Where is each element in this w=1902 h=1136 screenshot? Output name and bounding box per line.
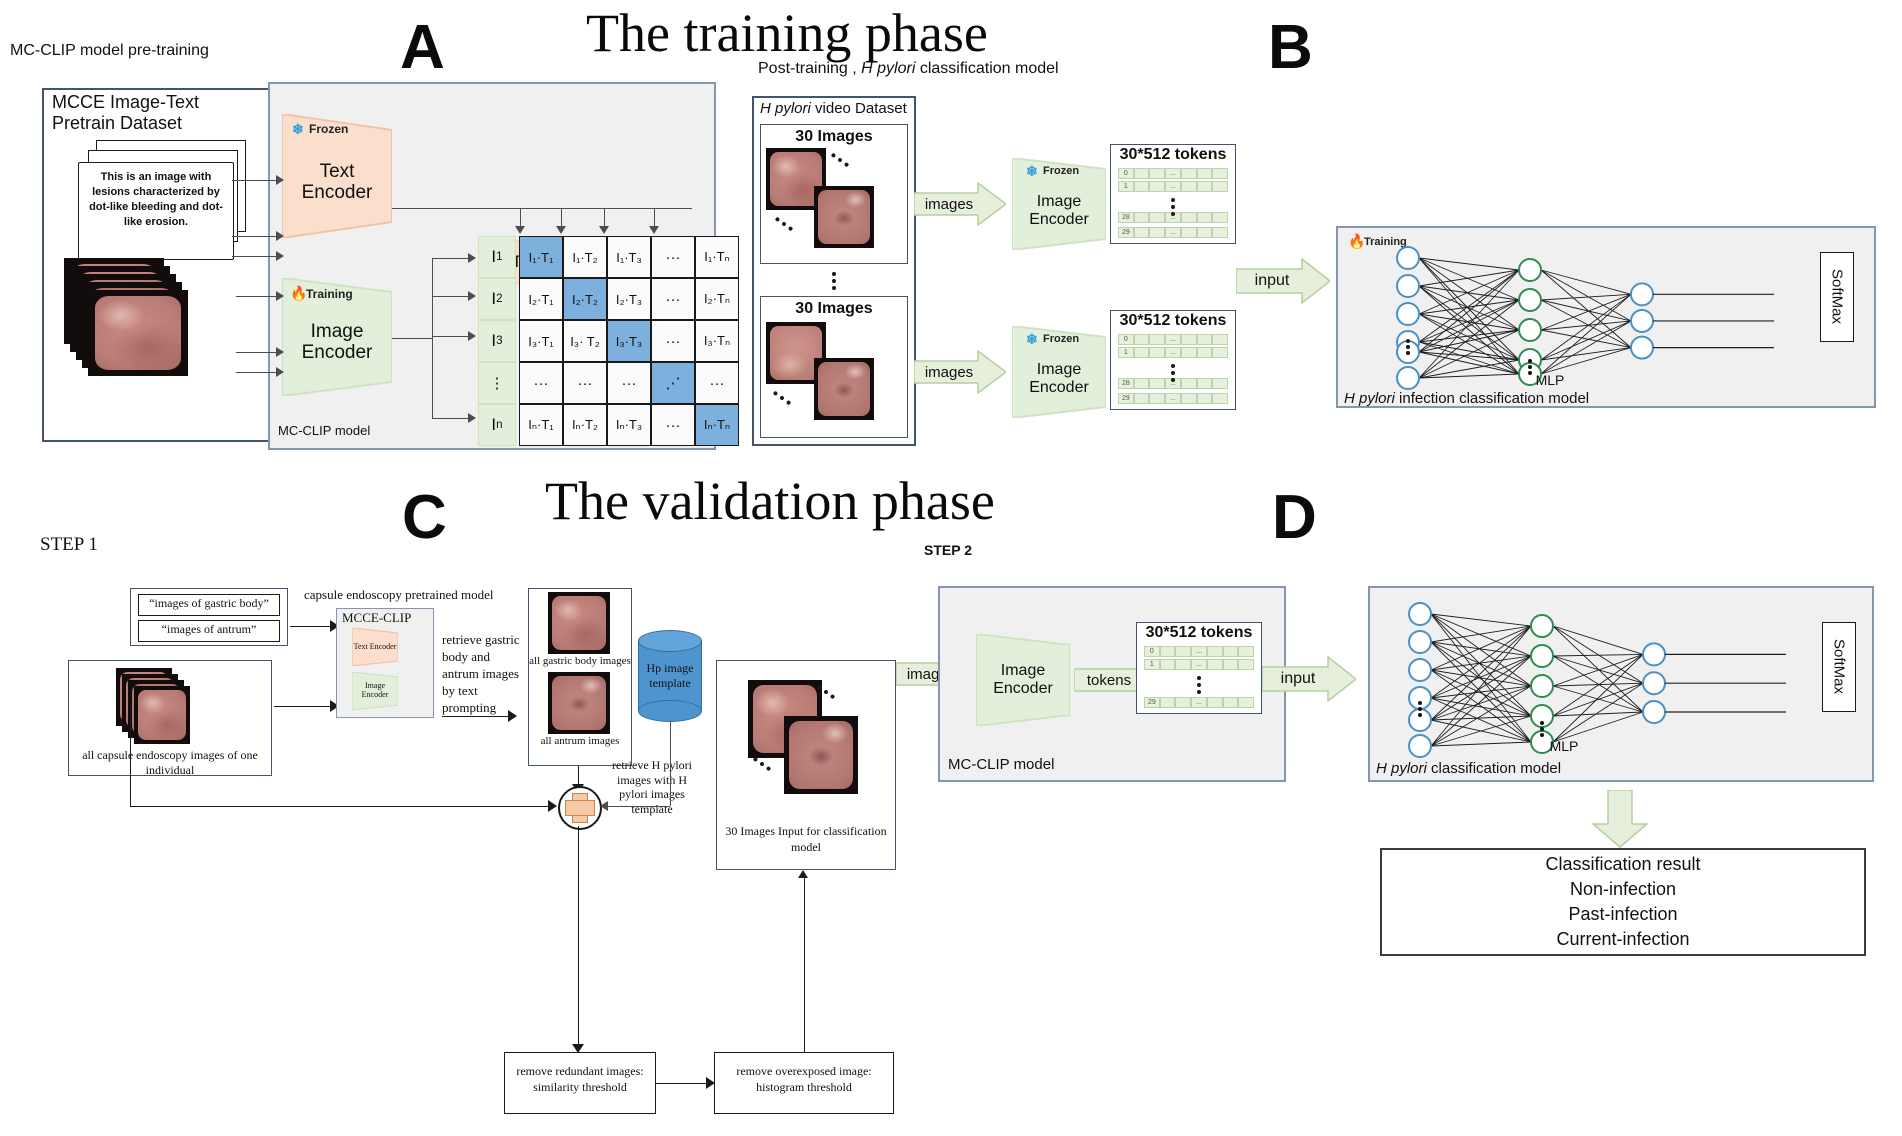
mlp-edge (1419, 270, 1519, 286)
token-cell (1149, 181, 1165, 192)
gastric-body-image (548, 592, 610, 654)
arrow-head (276, 175, 284, 185)
panel-b-caption: Post-training , H pylori classification … (758, 60, 1059, 78)
mlp-node (1519, 259, 1541, 281)
mlp-node (1643, 643, 1665, 665)
token-row: 29... (1118, 393, 1228, 404)
mlp-node (1643, 701, 1665, 723)
flow-line (432, 336, 472, 337)
image-encoder-label: Image Encoder (976, 662, 1070, 697)
matrix-cell: I₁·Tₙ (695, 236, 739, 278)
pretrained-model-caption: capsule endoscopy pretrained model (304, 588, 494, 603)
vertical-ellipsis-icon (1171, 364, 1175, 382)
token-cell (1207, 697, 1223, 708)
mcce-dataset-title: MCCE Image-Text Pretrain Dataset (52, 92, 252, 133)
arrow-head (276, 347, 284, 357)
antrum-caption: all antrum images (528, 735, 632, 748)
matrix-cell: I₁·T₃ (607, 236, 651, 278)
token-cell (1223, 659, 1239, 670)
frozen-badge-text-encoder: ❄ Frozen (292, 122, 348, 136)
matrix-cell: I₃·T₁ (519, 320, 563, 362)
matrix-cell: Iₙ·T₃ (607, 404, 651, 446)
token-cell (1175, 697, 1191, 708)
matrix-cell: ··· (563, 362, 607, 404)
token-cell (1134, 378, 1150, 389)
token-cell (1212, 334, 1228, 345)
mlp-node (1531, 675, 1553, 697)
vertical-ellipsis-icon (1197, 676, 1201, 694)
token-cell: 0 (1118, 168, 1134, 179)
arrow-head (468, 331, 476, 341)
ellipsis-label: ⋮ (490, 374, 505, 392)
prompt-1-label: “images of gastric body” (138, 597, 280, 611)
token-cell (1197, 347, 1213, 358)
panel-c-step-label: STEP 1 (40, 534, 98, 556)
flow-line (236, 296, 280, 297)
token-cell: ... (1191, 697, 1207, 708)
token-cell (1197, 168, 1213, 179)
mlp-node (1631, 310, 1653, 332)
input-block-arrow: input (1236, 258, 1330, 304)
mlp-edge (1541, 270, 1631, 348)
snowflake-icon: ❄ (292, 122, 306, 136)
mlp-label-b: MLP (1510, 372, 1590, 388)
image-token-cell: In (478, 404, 516, 446)
matrix-cell: ··· (651, 236, 695, 278)
token-cell (1160, 697, 1176, 708)
token-cell (1181, 181, 1197, 192)
ellipsis-dot (1406, 351, 1410, 355)
mlp-edge (1553, 626, 1643, 654)
token-cell (1134, 347, 1150, 358)
matrix-cell: I₃·T₃ (607, 320, 651, 362)
token-cell (1149, 334, 1165, 345)
image-encoder-d: Image Encoder (976, 634, 1070, 726)
matrix-cell: ··· (651, 404, 695, 446)
similarity-matrix: I₁·T₁I₁·T₂I₁·T₃···I₁·TₙI₂·T₁I₂·T₂I₂·T₃··… (519, 236, 719, 446)
mlp-node (1409, 659, 1431, 681)
ellipsis-dot (1406, 345, 1410, 349)
token-cell (1149, 212, 1165, 223)
ellipsis-dot (1540, 733, 1544, 737)
token-cell (1212, 378, 1228, 389)
arrow-head (515, 226, 525, 234)
token-cell (1181, 334, 1197, 345)
arrow-head (556, 226, 566, 234)
mlp-network-b (1380, 244, 1790, 392)
matrix-cell: Iₙ·T₂ (563, 404, 607, 446)
result-item: Non-infection (1380, 879, 1866, 900)
token-cell (1134, 334, 1150, 345)
token-cell: ... (1165, 227, 1181, 238)
token-cell (1181, 227, 1197, 238)
token-cell: 28 (1118, 212, 1134, 223)
token-cell (1149, 378, 1165, 389)
images-block-arrow: images (914, 350, 1006, 394)
matrix-cell: I₂·Tₙ (695, 278, 739, 320)
token-cell: 1 (1118, 347, 1134, 358)
mlp-node (1397, 247, 1419, 269)
token-cell (1212, 393, 1228, 404)
flow-line (236, 352, 280, 353)
mlp-node (1409, 687, 1431, 709)
vertical-ellipsis-icon (832, 272, 836, 290)
flow-line (804, 878, 805, 1052)
text-sample-caption: This is an image with lesions characteri… (82, 170, 230, 229)
flow-line (236, 372, 280, 373)
image-token-cell-ellipsis: ⋮ (478, 362, 516, 404)
token-cell (1238, 646, 1254, 657)
token-cell: 29 (1118, 393, 1134, 404)
matrix-cell: ⋰ (651, 362, 695, 404)
mlp-edge (1431, 716, 1531, 720)
token-cell (1212, 347, 1228, 358)
plus-junction-icon (558, 786, 602, 830)
matrix-cell: ··· (695, 362, 739, 404)
token-cell (1212, 181, 1228, 192)
result-item: Past-infection (1380, 904, 1866, 925)
mlp-edge (1431, 742, 1531, 746)
tokens-title-d: 30*512 tokens (1136, 624, 1262, 642)
antrum-image (548, 672, 610, 734)
training-badge-image-encoder: 🔥 Training (290, 286, 353, 301)
token-cell (1134, 168, 1150, 179)
matrix-cell: ··· (607, 362, 651, 404)
retrieve-note: retrieve gastric body and antrum images … (442, 632, 528, 716)
mc-clip-model-label: MC-CLIP model (278, 424, 370, 439)
token-row: 0... (1144, 646, 1254, 657)
flow-line (432, 258, 472, 259)
flow-line (232, 236, 280, 237)
mlp-node (1531, 645, 1553, 667)
mlp-network-d (1392, 600, 1802, 760)
training-phase-title: The training phase (586, 2, 988, 64)
image-encoder-label: Image Encoder (282, 322, 392, 364)
token-cell (1181, 378, 1197, 389)
token-grid-d: 0...1...29... (1144, 646, 1254, 708)
mcce-clip-title: MCCE-CLIP (342, 611, 411, 626)
flow-line (290, 626, 334, 627)
tokens-arrow-label: tokens (1087, 672, 1131, 689)
frozen-label: Frozen (1043, 165, 1079, 177)
images-arrow-label: images (925, 196, 973, 213)
flow-line (578, 826, 579, 856)
mlp-edge (1553, 654, 1643, 686)
token-cell: 28 (1118, 378, 1134, 389)
token-cell (1160, 646, 1176, 657)
gastric-body-caption: all gastric body images (528, 655, 632, 668)
token-cell (1149, 347, 1165, 358)
token-cell (1197, 181, 1213, 192)
ellipsis-dot (1540, 727, 1544, 731)
matrix-cell: I₂·T₃ (607, 278, 651, 320)
vertical-ellipsis-icon (1171, 198, 1175, 216)
image-encoder-label: Image Encoder (352, 682, 398, 700)
mlp-node (1397, 367, 1419, 389)
token-cell (1197, 227, 1213, 238)
arrow-head (548, 800, 557, 812)
group-label: 30 Images (760, 128, 908, 146)
flame-icon: 🔥 (1348, 234, 1361, 249)
token-cell (1181, 347, 1197, 358)
image-encoder-c: Image Encoder (352, 672, 398, 710)
mlp-node (1531, 615, 1553, 637)
flow-line (670, 722, 671, 806)
mlp-node (1519, 289, 1541, 311)
tokens-title: 30*512 tokens (1110, 146, 1236, 164)
arrow-head (508, 710, 517, 722)
image-encoder-label: Image Encoder (1012, 361, 1106, 396)
token-index: n (496, 419, 502, 431)
matrix-cell: I₃· T₂ (563, 320, 607, 362)
token-cell: 0 (1144, 646, 1160, 657)
image-token-cell: I3 (478, 320, 516, 362)
mlp-node (1643, 672, 1665, 694)
frozen-label: Frozen (1043, 333, 1079, 345)
flow-line (130, 706, 131, 806)
token-cell (1223, 697, 1239, 708)
input-arrow-label: input (1281, 670, 1316, 688)
token-row: 0... (1118, 334, 1228, 345)
tokens-title: 30*512 tokens (1110, 312, 1236, 330)
arrow-head (468, 413, 476, 423)
ellipsis-dot (1528, 365, 1532, 369)
mlp-node (1397, 275, 1419, 297)
mlp-node (1631, 283, 1653, 305)
token-cell: 1 (1118, 181, 1134, 192)
flow-line (232, 256, 280, 257)
image-token-cell: I1 (478, 236, 516, 278)
token-cell (1134, 227, 1150, 238)
token-cell: 1 (1144, 659, 1160, 670)
token-cell: 29 (1144, 697, 1160, 708)
token-row: 1... (1144, 659, 1254, 670)
frozen-badge-b2: ❄ Frozen (1026, 332, 1079, 346)
mlp-edge (1431, 686, 1531, 720)
mlp-edge (1541, 294, 1631, 374)
token-cell (1238, 659, 1254, 670)
panel-letter-d: D (1272, 482, 1317, 553)
token-cell: ... (1191, 646, 1207, 657)
token-cell: ... (1165, 181, 1181, 192)
result-block-arrow (1592, 790, 1648, 848)
hpylori-video-dataset-title: H pylori video Dataset (760, 100, 907, 117)
process-1-label: remove redundant images: similarity thre… (508, 1064, 652, 1095)
input-block-arrow-d: input (1262, 656, 1356, 702)
mlp-edge (1419, 270, 1519, 378)
mlp-edge (1419, 374, 1519, 378)
panel-d-step-label: STEP 2 (924, 542, 972, 558)
input-arrow-label: input (1255, 272, 1290, 290)
mlp-label-d: MLP (1524, 738, 1604, 754)
mlp-edge (1541, 348, 1631, 374)
training-label: Training (306, 287, 353, 301)
token-index: 3 (496, 335, 502, 347)
flow-line (656, 1083, 710, 1084)
text-encoder-label: Text Encoder (354, 643, 397, 652)
ellipsis-dot (1418, 707, 1422, 711)
mlp-edge (1553, 654, 1643, 742)
frozen-badge-b1: ❄ Frozen (1026, 164, 1079, 178)
token-cell (1134, 393, 1150, 404)
token-cell: ... (1191, 659, 1207, 670)
group-label: 30 Images (760, 300, 908, 318)
token-cell (1181, 212, 1197, 223)
text-encoder-label: Text Encoder (282, 162, 392, 204)
token-cell (1238, 697, 1254, 708)
token-cell (1149, 168, 1165, 179)
flow-line (606, 806, 670, 807)
ellipsis-dot (1418, 701, 1422, 705)
mlp-edge (1553, 656, 1643, 683)
matrix-cell: I₃·Tₙ (695, 320, 739, 362)
images-block-arrow: images (914, 182, 1006, 226)
image-token-cell: I2 (478, 278, 516, 320)
arrow-head (468, 291, 476, 301)
token-cell (1160, 659, 1176, 670)
group-endoscopy-image (814, 186, 874, 248)
group-endoscopy-image (814, 358, 874, 420)
arrow-head (599, 226, 609, 234)
matrix-cell: ··· (651, 320, 695, 362)
ellipsis-dot (1418, 713, 1422, 717)
matrix-cell: I₁·T₂ (563, 236, 607, 278)
token-cell (1134, 181, 1150, 192)
panel-letter-b: B (1268, 12, 1313, 83)
matrix-cell: Iₙ·Tₙ (695, 404, 739, 446)
flow-line (442, 716, 512, 717)
token-row: 29... (1118, 227, 1228, 238)
token-row: 29... (1144, 697, 1254, 708)
token-grid-2: 0...1...28...29... (1118, 334, 1228, 404)
mlp-node (1631, 337, 1653, 359)
retrieve-hp-note: retrieve H pylori images with H pylori i… (604, 758, 700, 817)
block-arrow-shape (1592, 790, 1648, 848)
mlp-edge (1419, 286, 1519, 374)
mc-clip-model-label-d: MC-CLIP model (948, 756, 1054, 773)
mlp-node (1409, 735, 1431, 757)
token-cell (1197, 212, 1213, 223)
panel-letter-a: A (400, 12, 445, 83)
process-2-label: remove overexposed image: histogram thre… (718, 1064, 890, 1095)
images-arrow-label: images (925, 364, 973, 381)
token-cell (1212, 227, 1228, 238)
token-cell (1212, 168, 1228, 179)
arrow-head (276, 367, 284, 377)
flow-line (432, 296, 472, 297)
token-cell: ... (1165, 334, 1181, 345)
flow-line (232, 180, 280, 181)
arrow-head (798, 870, 808, 878)
ellipsis-dot (1406, 339, 1410, 343)
flow-line (392, 338, 432, 339)
token-cell (1197, 334, 1213, 345)
hp-image-template-db: Hp image template (638, 630, 702, 722)
token-cell (1175, 646, 1191, 657)
panel-letter-c: C (402, 482, 447, 553)
flow-line (578, 856, 579, 1051)
mlp-node (1409, 709, 1431, 731)
matrix-cell: ··· (651, 278, 695, 320)
mlp-node (1409, 603, 1431, 625)
token-cell (1149, 227, 1165, 238)
token-row: 1... (1118, 347, 1228, 358)
token-cell (1181, 168, 1197, 179)
arrow-head (600, 801, 608, 811)
token-cell (1207, 646, 1223, 657)
matrix-cell: Iₙ·T₁ (519, 404, 563, 446)
capsule-input-caption: all capsule endoscopy images of one indi… (72, 748, 268, 778)
matrix-cell: I₂·T₁ (519, 278, 563, 320)
token-cell (1175, 659, 1191, 670)
token-cell (1197, 393, 1213, 404)
mlp-node (1519, 319, 1541, 341)
flow-line (130, 806, 552, 807)
result-item: Current-infection (1380, 929, 1866, 950)
arrow-head (276, 251, 284, 261)
mlp-edge (1541, 330, 1631, 348)
validation-phase-title: The validation phase (545, 470, 995, 532)
arrow-head (276, 291, 284, 301)
mlp-edge (1431, 686, 1531, 746)
token-cell (1149, 393, 1165, 404)
mlp-node (1409, 631, 1431, 653)
result-title: Classification result (1380, 854, 1866, 875)
token-cell: ... (1165, 347, 1181, 358)
arrow-head (468, 253, 476, 263)
ellipsis-dot (1528, 359, 1532, 363)
token-index: 2 (496, 293, 502, 305)
mlp-edge (1419, 270, 1519, 352)
token-cell: 0 (1118, 334, 1134, 345)
token-index: 1 (496, 251, 502, 263)
snowflake-icon: ❄ (1026, 332, 1040, 346)
flow-line (432, 418, 472, 419)
hp-template-label: Hp image template (638, 630, 702, 722)
mlp-edge (1541, 300, 1631, 321)
dataset-endoscopy-image (88, 290, 188, 376)
frozen-label: Frozen (309, 122, 348, 136)
token-cell (1223, 646, 1239, 657)
token-row: 1... (1118, 181, 1228, 192)
token-cell (1134, 212, 1150, 223)
ellipsis-dot (1540, 721, 1544, 725)
softmax-label-b: SoftMax (1820, 252, 1854, 342)
token-cell: ... (1165, 393, 1181, 404)
panel-a-caption: MC-CLIP model pre-training (10, 42, 209, 60)
mlp-node (1397, 303, 1419, 325)
token-cell (1207, 659, 1223, 670)
panel-b-caption-text: Post-training , H pylori classification … (758, 60, 1059, 77)
flow-line (274, 706, 334, 707)
arrow-head (276, 231, 284, 241)
flame-icon: 🔥 (290, 286, 303, 301)
matrix-cell: I₂·T₂ (563, 278, 607, 320)
token-cell (1181, 393, 1197, 404)
text-encoder-c: Text Encoder (352, 628, 398, 666)
prompt-2-label: “images of antrum” (138, 623, 280, 637)
capsule-endoscopy-image (134, 686, 190, 744)
final-endoscopy-image (784, 716, 858, 794)
token-cell: ... (1165, 168, 1181, 179)
panel-b-model-caption: H pylori infection classification model (1344, 390, 1589, 407)
mlp-edge (1541, 294, 1631, 330)
token-cell (1212, 212, 1228, 223)
panel-d-model-caption: H pylori classification model (1376, 760, 1561, 777)
arrow-head (649, 226, 659, 234)
flow-line (432, 258, 433, 418)
matrix-cell: ··· (519, 362, 563, 404)
